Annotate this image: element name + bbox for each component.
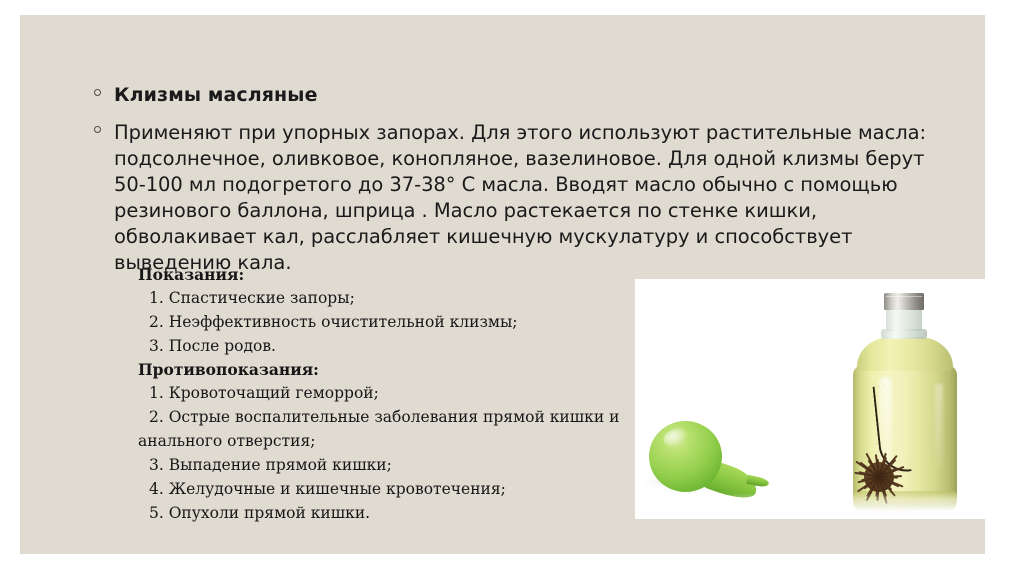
bullet-item-paragraph: Применяют при упорных запорах. Для этого… xyxy=(92,120,937,277)
oil-bottle-icon xyxy=(841,293,971,515)
indications-contraindications-block: Показания: 1. Спастические запоры; 2. Не… xyxy=(138,263,638,525)
indications-title: Показания: xyxy=(138,263,638,287)
bottle-neck xyxy=(886,309,922,331)
contraindications-item: 4. Желудочные и кишечные кровотечения; xyxy=(138,478,638,502)
contraindications-item: 1. Кровоточащий геморрой; xyxy=(138,382,638,406)
paragraph-text: Применяют при упорных запорах. Для этого… xyxy=(114,121,926,275)
contraindications-item: 2. Острые воспалительные заболевания пря… xyxy=(138,406,638,430)
contraindications-title: Противопоказания: xyxy=(138,358,638,382)
heading-text: Клизмы масляные xyxy=(114,84,318,106)
photo-stage xyxy=(635,279,1001,519)
photo-floor-fade xyxy=(635,493,1001,519)
slide-root: Клизмы масляные Применяют при упорных за… xyxy=(0,0,1020,574)
bottle-shoulder xyxy=(857,337,953,371)
illustration-photo xyxy=(635,279,1001,519)
indications-item: 3. После родов. xyxy=(138,335,638,359)
contraindications-item: 5. Опухоли прямой кишки. xyxy=(138,502,638,526)
contraindications-item: 3. Выпадение прямой кишки; xyxy=(138,454,638,478)
contraindications-item-wrap: анального отверстия; xyxy=(138,430,638,454)
indications-item: 1. Спастические запоры; xyxy=(138,287,638,311)
indications-item: 2. Неэффективность очистительной клизмы; xyxy=(138,311,638,335)
slide-surface: Клизмы масляные Применяют при упорных за… xyxy=(20,15,985,554)
bullet-item-heading: Клизмы масляные xyxy=(92,83,937,108)
bullet-content-block: Клизмы масляные Применяют при упорных за… xyxy=(92,83,937,276)
bullet-circle-icon xyxy=(94,126,101,133)
bullet-circle-icon xyxy=(94,89,101,96)
bottle-cap-icon xyxy=(884,293,924,310)
